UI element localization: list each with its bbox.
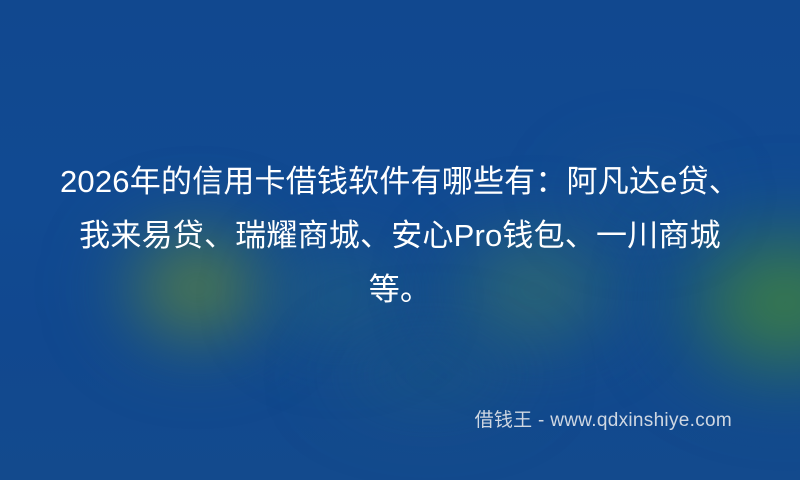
watermark-text: 借钱王 - www.qdxinshiye.com (475, 410, 732, 432)
image-canvas: 2026年的信用卡借钱软件有哪些有：阿凡达e贷、我来易贷、瑞耀商城、安心Pro钱… (0, 0, 800, 480)
headline-text: 2026年的信用卡借钱软件有哪些有：阿凡达e贷、我来易贷、瑞耀商城、安心Pro钱… (50, 155, 750, 317)
